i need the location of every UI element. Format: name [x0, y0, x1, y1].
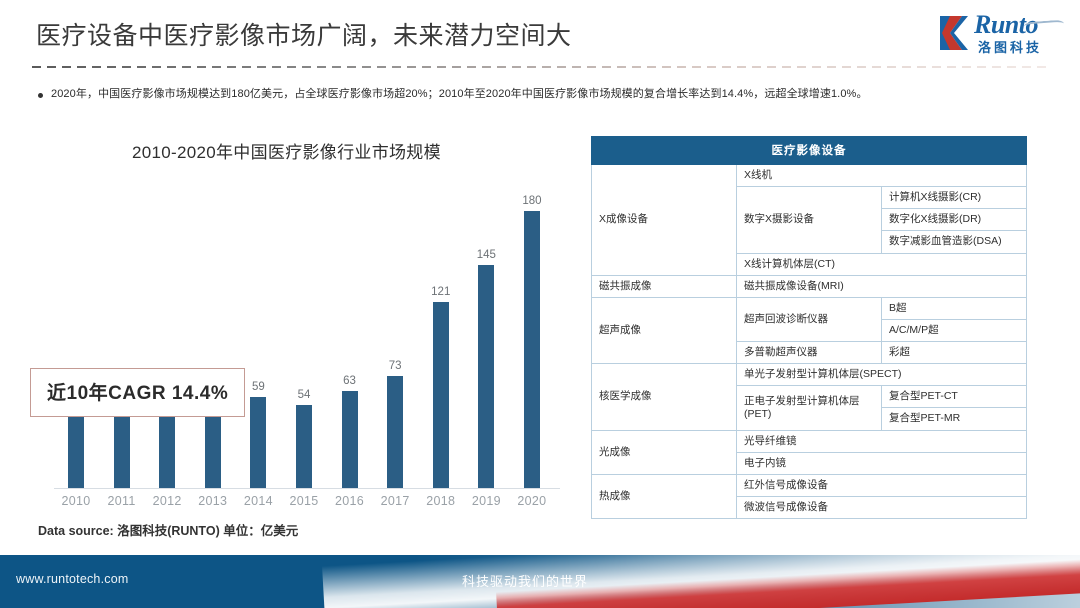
page-title: 医疗设备中医疗影像市场广阔，未来潜力空间大 [36, 16, 572, 52]
chart-x-tick-label: 2019 [464, 494, 508, 508]
footer-top-border [0, 552, 1080, 555]
table-row: 磁共振成像磁共振成像设备(MRI) [592, 275, 1027, 297]
chart-bar-value-label: 180 [522, 195, 541, 207]
bullet-text: 2020年，中国医疗影像市场规模达到180亿美元，占全球医疗影像市场超20%；2… [51, 87, 868, 102]
chart-bar [159, 410, 175, 488]
table-cell-subtype: 复合型PET-CT [882, 386, 1027, 408]
chart-bar-column: 121 [419, 188, 463, 488]
chart-bar [387, 376, 403, 488]
chart-x-tick-label: 2015 [282, 494, 326, 508]
chart-x-tick-label: 2018 [419, 494, 463, 508]
chart-title: 2010-2020年中国医疗影像行业市场规模 [132, 138, 441, 163]
chart-bar [250, 397, 266, 488]
chart-bar-value-label: 73 [389, 360, 402, 372]
runto-logo: Runto 洛图科技 [938, 12, 1064, 56]
chart-bar-column: 180 [510, 188, 554, 488]
chart-bar [433, 302, 449, 488]
table-cell-subtype: 复合型PET-MR [882, 408, 1027, 430]
table-row: 超声成像超声回波诊断仪器B超 [592, 297, 1027, 319]
slide: 医疗设备中医疗影像市场广阔，未来潜力空间大 Runto 洛图科技 2020年，中… [0, 0, 1080, 608]
table-cell-equipment: 磁共振成像设备(MRI) [737, 275, 1027, 297]
chart-bar [296, 405, 312, 488]
chart-bar [478, 265, 494, 488]
footer-slogan: 科技驱动我们的世界 [462, 571, 588, 590]
chart-x-tick-label: 2013 [191, 494, 235, 508]
logo-swoosh-decoration [1024, 20, 1064, 31]
table-cell-equipment: 红外信号成像设备 [737, 474, 1027, 496]
chart-bar [68, 416, 84, 488]
chart-bar-column: 54 [282, 188, 326, 488]
table-cell-equipment: 电子内镜 [737, 452, 1027, 474]
table-cell-subtype: B超 [882, 297, 1027, 319]
chart-bar-column: 145 [464, 188, 508, 488]
chart-bar-value-label: 121 [431, 286, 450, 298]
equipment-table-wrap: 医疗影像设备 X成像设备X线机数字X摄影设备计算机X线摄影(CR)数字化X线摄影… [591, 136, 1027, 519]
chart-x-tick-label: 2012 [145, 494, 189, 508]
footer-url[interactable]: www.runtotech.com [16, 572, 128, 586]
table-cell-category: 磁共振成像 [592, 275, 737, 297]
table-cell-category: 热成像 [592, 474, 737, 518]
table-cell-category: X成像设备 [592, 165, 737, 276]
chart-bar [114, 410, 130, 488]
table-cell-subtype: 数字减影血管造影(DSA) [882, 231, 1027, 253]
table-cell-equipment: 微波信号成像设备 [737, 496, 1027, 518]
table-cell-equipment: X线计算机体层(CT) [737, 253, 1027, 275]
table-cell-equipment: 光导纤维镜 [737, 430, 1027, 452]
footer: www.runtotech.com 科技驱动我们的世界 [0, 552, 1080, 608]
chart-bar-column: 53 [191, 188, 235, 488]
chart-bar [524, 211, 540, 488]
chart-bar-column: 73 [373, 188, 417, 488]
chart-bar-value-label: 54 [298, 389, 311, 401]
bullet-item: 2020年，中国医疗影像市场规模达到180亿美元，占全球医疗影像市场超20%；2… [38, 87, 868, 102]
chart-x-tick-label: 2014 [236, 494, 280, 508]
chart-bars: 4751515359546373121145180 [54, 188, 554, 488]
data-source-note: Data source: 洛图科技(RUNTO) 单位：亿美元 [38, 520, 298, 539]
chart-bar-column: 63 [328, 188, 372, 488]
table-row: 光成像光导纤维镜 [592, 430, 1027, 452]
table-cell-subtype: 彩超 [882, 342, 1027, 364]
chart-x-tick-label: 2010 [54, 494, 98, 508]
table-cell-category: 光成像 [592, 430, 737, 474]
header-divider [32, 66, 1048, 68]
table-cell-equipment: 数字X摄影设备 [737, 187, 882, 253]
table-cell-category: 超声成像 [592, 297, 737, 363]
table-cell-equipment: 正电子发射型计算机体层(PET) [737, 386, 882, 430]
chart-bar-column: 51 [145, 188, 189, 488]
chart-bar-column: 47 [54, 188, 98, 488]
bullet-dot-icon [38, 93, 43, 98]
chart-x-tick-label: 2020 [510, 494, 554, 508]
table-cell-category: 核医学成像 [592, 364, 737, 430]
chart-bar-value-label: 59 [252, 381, 265, 393]
chart-bar-column: 51 [100, 188, 144, 488]
chart-bar-value-label: 63 [343, 375, 356, 387]
table-header-row: 医疗影像设备 [592, 137, 1027, 165]
table-header-cell: 医疗影像设备 [592, 137, 1027, 165]
chart-bar-value-label: 145 [477, 249, 496, 261]
chart-bar-column: 59 [236, 188, 280, 488]
table-cell-equipment: 超声回波诊断仪器 [737, 297, 882, 341]
chart-x-tick-label: 2016 [328, 494, 372, 508]
runto-logo-chinese: 洛图科技 [978, 37, 1042, 56]
table-row: 热成像红外信号成像设备 [592, 474, 1027, 496]
runto-logo-mark-icon [938, 14, 972, 52]
table-cell-equipment: 多普勒超声仪器 [737, 342, 882, 364]
table-cell-subtype: 计算机X线摄影(CR) [882, 187, 1027, 209]
chart-panel: 2010-2020年中国医疗影像行业市场规模 47515153595463731… [28, 128, 568, 548]
table-cell-equipment: 单光子发射型计算机体层(SPECT) [737, 364, 1027, 386]
table-cell-subtype: 数字化X线摄影(DR) [882, 209, 1027, 231]
chart-bar [342, 391, 358, 488]
cagr-callout: 近10年CAGR 14.4% [30, 368, 245, 417]
equipment-table: 医疗影像设备 X成像设备X线机数字X摄影设备计算机X线摄影(CR)数字化X线摄影… [591, 136, 1027, 519]
chart-x-tick-label: 2011 [100, 494, 144, 508]
table-row: X成像设备X线机 [592, 165, 1027, 187]
chart-bar [205, 406, 221, 488]
table-row: 核医学成像单光子发射型计算机体层(SPECT) [592, 364, 1027, 386]
chart-x-tick-labels: 2010201120122013201420152016201720182019… [54, 494, 554, 508]
table-cell-equipment: X线机 [737, 165, 1027, 187]
chart-x-axis [54, 488, 560, 489]
table-cell-subtype: A/C/M/P超 [882, 319, 1027, 341]
chart-x-tick-label: 2017 [373, 494, 417, 508]
